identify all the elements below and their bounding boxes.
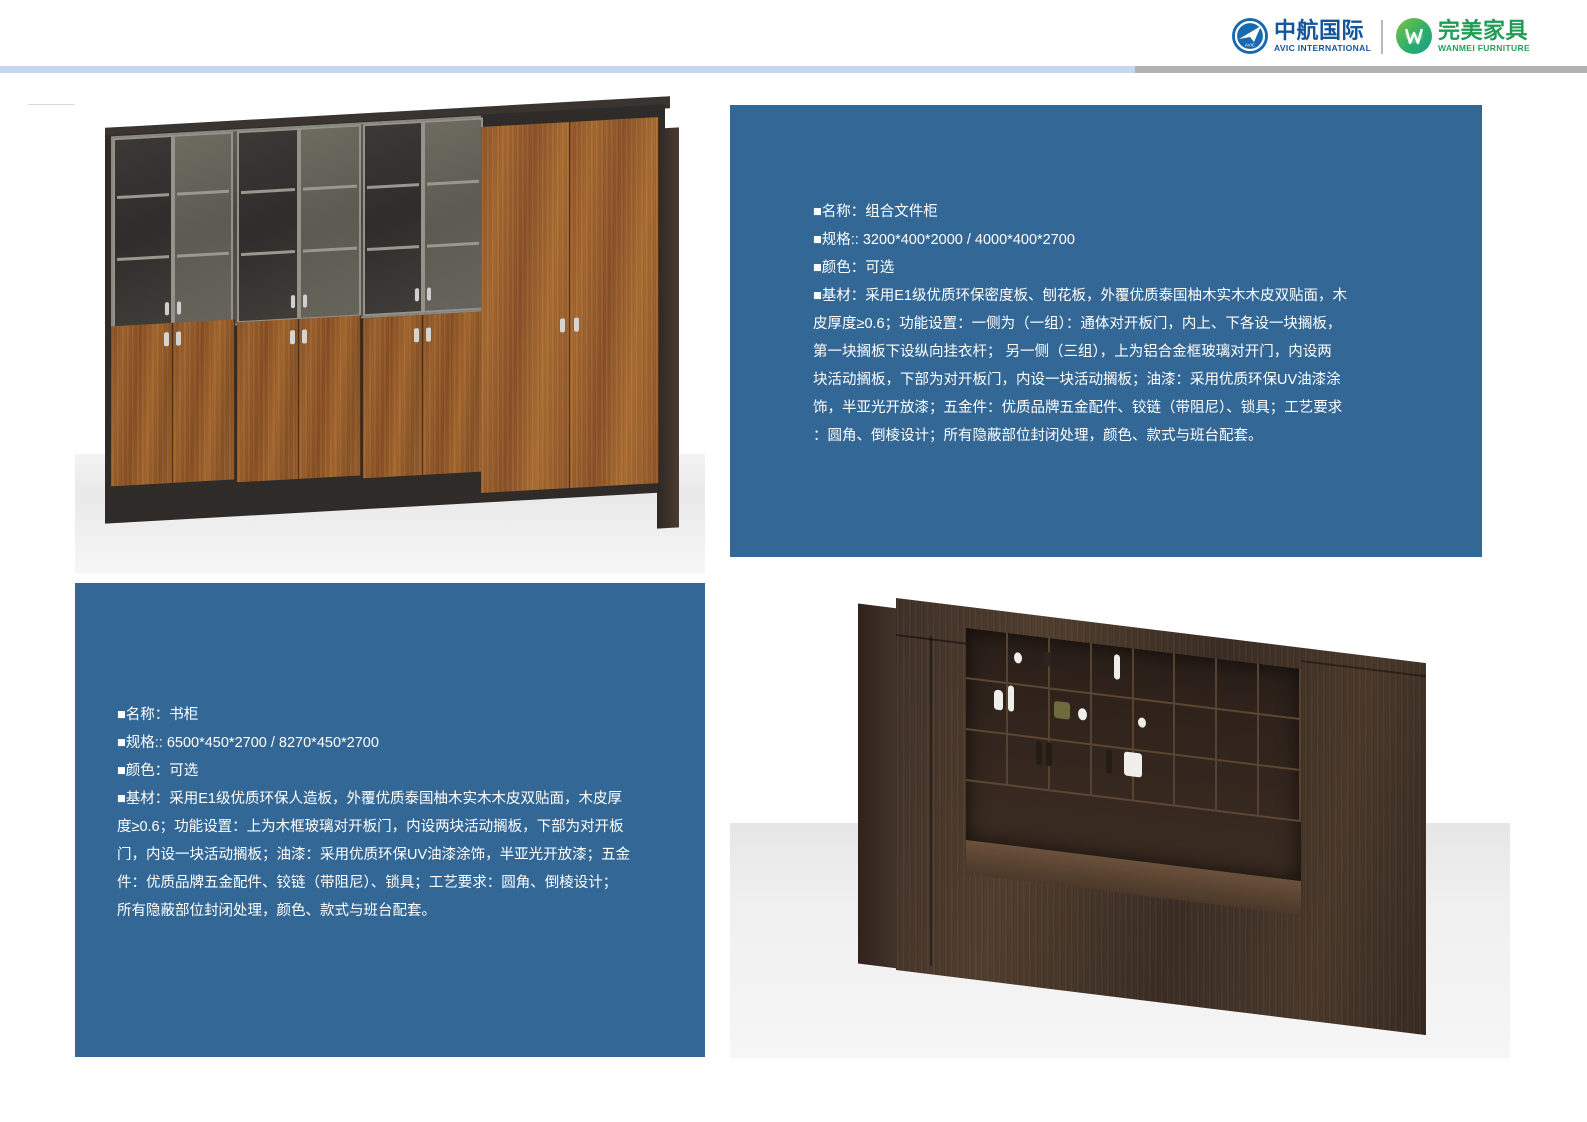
cubby xyxy=(966,730,1008,786)
bookcase-photo xyxy=(730,570,1510,1058)
cubby xyxy=(1050,638,1092,694)
wood-door xyxy=(173,319,235,482)
cubby xyxy=(1092,643,1134,699)
glass-door xyxy=(173,132,233,327)
spec-size-line: ■规格:: 3200*400*2000 / 4000*400*2700 xyxy=(813,226,1413,254)
decor-bottle xyxy=(1106,749,1112,774)
logo-divider xyxy=(1381,20,1383,54)
cubby xyxy=(1175,705,1217,761)
avic-logo-text: 中航国际 AVIC INTERNATIONAL xyxy=(1274,20,1371,53)
bookcase-spec-panel: ■名称：书柜 ■规格:: 6500*450*2700 / 8270*450*27… xyxy=(75,583,705,1057)
wood-door xyxy=(423,312,483,475)
file-cabinet-spec-text: ■名称：组合文件柜 ■规格:: 3200*400*2000 / 4000*400… xyxy=(813,198,1413,450)
wanmei-logo-text: 完美家具 WANMEI FURNITURE xyxy=(1438,20,1530,53)
cubby xyxy=(1217,710,1259,766)
avic-logo-en: AVIC INTERNATIONAL xyxy=(1274,44,1371,53)
decor-vase xyxy=(1078,708,1087,721)
cubby xyxy=(1259,664,1301,720)
spec-material-line: 第一块搁板下设纵向挂衣杆； 另一侧（三组），上为铝合金框玻璃对开门，内设两 xyxy=(813,338,1413,366)
cubby xyxy=(1050,740,1092,796)
wanmei-logo-cn: 完美家具 xyxy=(1438,20,1530,42)
cubby xyxy=(1134,699,1176,755)
wanmei-leaf-w-icon xyxy=(1396,18,1432,54)
panel-seam xyxy=(930,636,932,966)
wardrobe-door-bank xyxy=(481,117,659,495)
decor-books xyxy=(1124,751,1142,777)
wardrobe-door xyxy=(570,117,659,488)
cubby xyxy=(1259,715,1301,771)
header-rule-gray xyxy=(1135,66,1587,73)
cubby xyxy=(1217,761,1259,817)
wood-door xyxy=(299,315,361,478)
decor-plant xyxy=(1044,652,1050,667)
cubby xyxy=(1175,654,1217,710)
decor-bottle xyxy=(1036,741,1042,766)
spec-material-line: 皮厚度≥0.6；功能设置：一侧为（一组）：通体对开板门，内上、下各设一块搁板， xyxy=(813,310,1413,338)
spec-size-line: ■规格:: 6500*450*2700 / 8270*450*2700 xyxy=(117,729,662,757)
cubby xyxy=(1217,659,1259,715)
decor-vase xyxy=(1014,652,1022,664)
combination-file-cabinet-photo xyxy=(75,88,705,574)
avic-logo-cn: 中航国际 xyxy=(1274,20,1371,42)
spec-material-line: ■基材：采用E1级优质环保密度板、刨花板，外覆优质泰国柚木实木木皮双贴面，木 xyxy=(813,282,1413,310)
bookcase-side-return xyxy=(858,604,898,969)
glass-door xyxy=(363,121,423,316)
open-shelf-niche xyxy=(966,628,1301,881)
cabinet-side-panel xyxy=(657,127,679,528)
spec-material-line: 件：优质品牌五金配件、铰链（带阻尼）、锁具；工艺要求：圆角、倒棱设计； xyxy=(117,869,662,897)
avic-logo: AVIC 中航国际 AVIC INTERNATIONAL xyxy=(1232,18,1371,54)
spec-name-line: ■名称：书柜 xyxy=(117,701,662,729)
cubby xyxy=(966,628,1008,684)
decor-vase xyxy=(994,689,1003,710)
spec-material-line: 度≥0.6；功能设置：上为木框玻璃对开板门，内设两块活动搁板，下部为对开板 xyxy=(117,813,662,841)
wanmei-logo-en: WANMEI FURNITURE xyxy=(1438,44,1530,53)
glass-door xyxy=(237,128,299,323)
glass-door xyxy=(299,124,361,319)
spec-material-line: 所有隐蔽部位封闭处理，颜色、款式与班台配套。 xyxy=(117,897,662,925)
wood-door xyxy=(237,319,299,482)
glass-door xyxy=(113,135,173,330)
wardrobe-door xyxy=(481,122,570,493)
cubby xyxy=(1175,755,1217,811)
spec-material-line: ：圆角、倒棱设计；所有隐蔽部位封闭处理，颜色、款式与班台配套。 xyxy=(813,422,1413,450)
svg-text:AVIC: AVIC xyxy=(1245,43,1256,48)
cubby xyxy=(1008,684,1050,740)
decor-books xyxy=(1054,701,1070,720)
header-rule-blue xyxy=(0,66,1135,73)
cabinet-render xyxy=(97,102,697,562)
wood-door xyxy=(111,323,173,486)
spec-material-line: 饰，半亚光开放漆；五金件：优质品牌五金配件、铰链（带阻尼）、锁具；工艺要求 xyxy=(813,394,1413,422)
cubby xyxy=(1259,766,1301,822)
cubby xyxy=(1008,735,1050,791)
decor-tall-vase xyxy=(1008,685,1014,712)
cubby xyxy=(1134,649,1176,705)
page-header: AVIC 中航国际 AVIC INTERNATIONAL 完美家具 WANMEI… xyxy=(0,0,1587,72)
wanmei-logo: 完美家具 WANMEI FURNITURE xyxy=(1396,18,1530,54)
bookcase-spec-text: ■名称：书柜 ■规格:: 6500*450*2700 / 8270*450*27… xyxy=(117,701,662,925)
decor-vase xyxy=(1138,717,1146,728)
spec-material-line: ■基材：采用E1级优质环保人造板，外覆优质泰国柚木实木木皮双贴面，木皮厚 xyxy=(117,785,662,813)
glass-door-bank xyxy=(111,116,481,333)
file-cabinet-spec-panel: ■名称：组合文件柜 ■规格:: 3200*400*2000 / 4000*400… xyxy=(730,105,1482,557)
spec-material-line: 块活动搁板，下部为对开板门，内设一块活动搁板；油漆：采用优质环保UV油漆涂 xyxy=(813,366,1413,394)
decor-bottle xyxy=(1046,742,1052,767)
spec-color-line: ■颜色：可选 xyxy=(813,254,1413,282)
decor-tall-vase xyxy=(1114,654,1120,680)
glass-door xyxy=(423,118,483,313)
lower-wood-door-bank xyxy=(111,306,481,495)
spec-name-line: ■名称：组合文件柜 xyxy=(813,198,1413,226)
spec-material-line: 门，内设一块活动搁板；油漆：采用优质环保UV油漆涂饰，半亚光开放漆；五金 xyxy=(117,841,662,869)
bookcase-render xyxy=(858,598,1458,998)
avic-swoosh-icon: AVIC xyxy=(1232,18,1268,54)
cubby xyxy=(1092,694,1134,750)
wood-door xyxy=(363,315,423,478)
spec-color-line: ■颜色：可选 xyxy=(117,757,662,785)
